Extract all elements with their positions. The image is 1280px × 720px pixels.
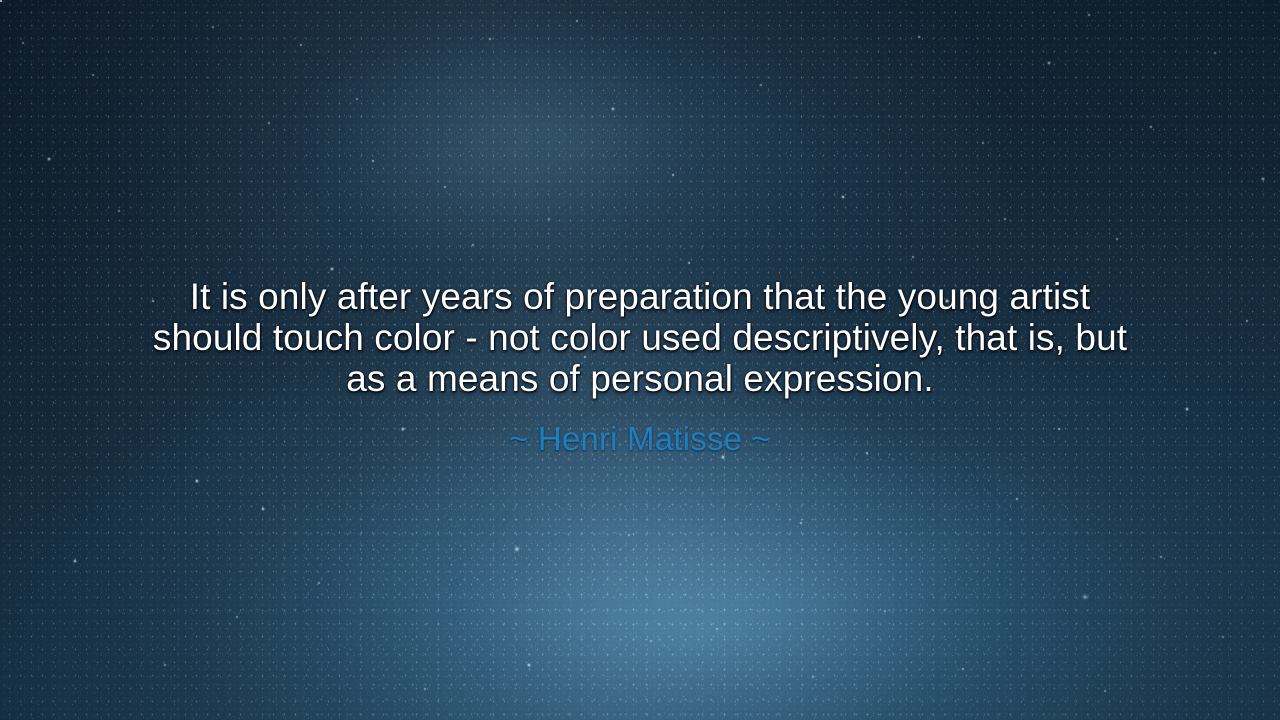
quote-overlay: It is only after years of preparation th… [0,0,1280,720]
quote-image-canvas: It is only after years of preparation th… [0,0,1280,720]
quote-text: It is only after years of preparation th… [140,276,1140,399]
quote-author: ~ Henri Matisse ~ [509,420,771,458]
